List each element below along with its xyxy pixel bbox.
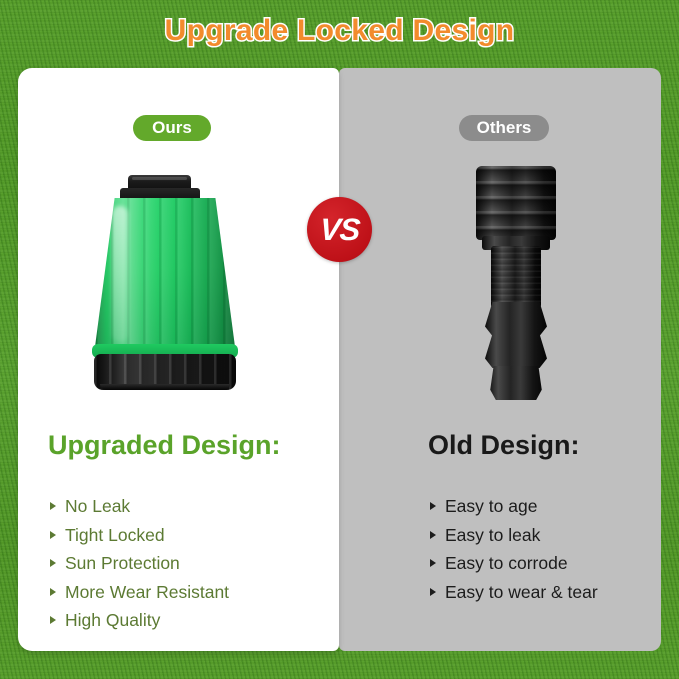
list-item-label: Easy to corrode — [445, 553, 568, 573]
list-item: Sun Protection — [50, 549, 229, 578]
list-item-label: Tight Locked — [65, 525, 165, 545]
triangle-bullet-icon — [430, 588, 436, 596]
list-item-label: More Wear Resistant — [65, 582, 229, 602]
list-item: High Quality — [50, 606, 229, 635]
comparison-infographic: Upgrade Locked Design Ours Upgraded Desi… — [0, 0, 679, 679]
triangle-bullet-icon — [50, 502, 56, 510]
barb-ribbed-head — [476, 166, 556, 240]
barb-ring-2 — [485, 334, 547, 368]
others-feature-list: Easy to age Easy to leak Easy to corrode… — [430, 492, 598, 606]
triangle-bullet-icon — [430, 559, 436, 567]
others-badge: Others — [459, 115, 549, 141]
list-item: Easy to wear & tear — [430, 578, 598, 607]
list-item-label: High Quality — [65, 610, 160, 630]
triangle-bullet-icon — [50, 559, 56, 567]
triangle-bullet-icon — [50, 616, 56, 624]
list-item: No Leak — [50, 492, 229, 521]
page-title: Upgrade Locked Design — [0, 14, 679, 48]
list-item: More Wear Resistant — [50, 578, 229, 607]
green-hose-connector-image — [90, 172, 255, 390]
black-barbed-connector-image — [466, 166, 566, 400]
connector-base-rim — [100, 384, 230, 390]
triangle-bullet-icon — [50, 531, 56, 539]
ours-heading: Upgraded Design: — [48, 430, 281, 461]
list-item-label: Easy to age — [445, 496, 537, 516]
ours-badge: Ours — [133, 115, 211, 141]
barb-ring-1 — [485, 302, 547, 336]
vs-label: VS — [319, 212, 361, 248]
list-item-label: Sun Protection — [65, 553, 180, 573]
triangle-bullet-icon — [430, 502, 436, 510]
barb-ring-3 — [488, 366, 544, 400]
others-heading: Old Design: — [428, 430, 580, 461]
ours-feature-list: No Leak Tight Locked Sun Protection More… — [50, 492, 229, 635]
list-item: Easy to age — [430, 492, 598, 521]
vs-badge: VS — [307, 197, 372, 262]
triangle-bullet-icon — [50, 588, 56, 596]
connector-highlight — [112, 206, 128, 342]
list-item: Easy to leak — [430, 521, 598, 550]
list-item-label: Easy to wear & tear — [445, 582, 598, 602]
list-item: Tight Locked — [50, 521, 229, 550]
barb-midsection — [491, 246, 541, 308]
list-item-label: Easy to leak — [445, 525, 540, 545]
triangle-bullet-icon — [430, 531, 436, 539]
list-item-label: No Leak — [65, 496, 130, 516]
list-item: Easy to corrode — [430, 549, 598, 578]
